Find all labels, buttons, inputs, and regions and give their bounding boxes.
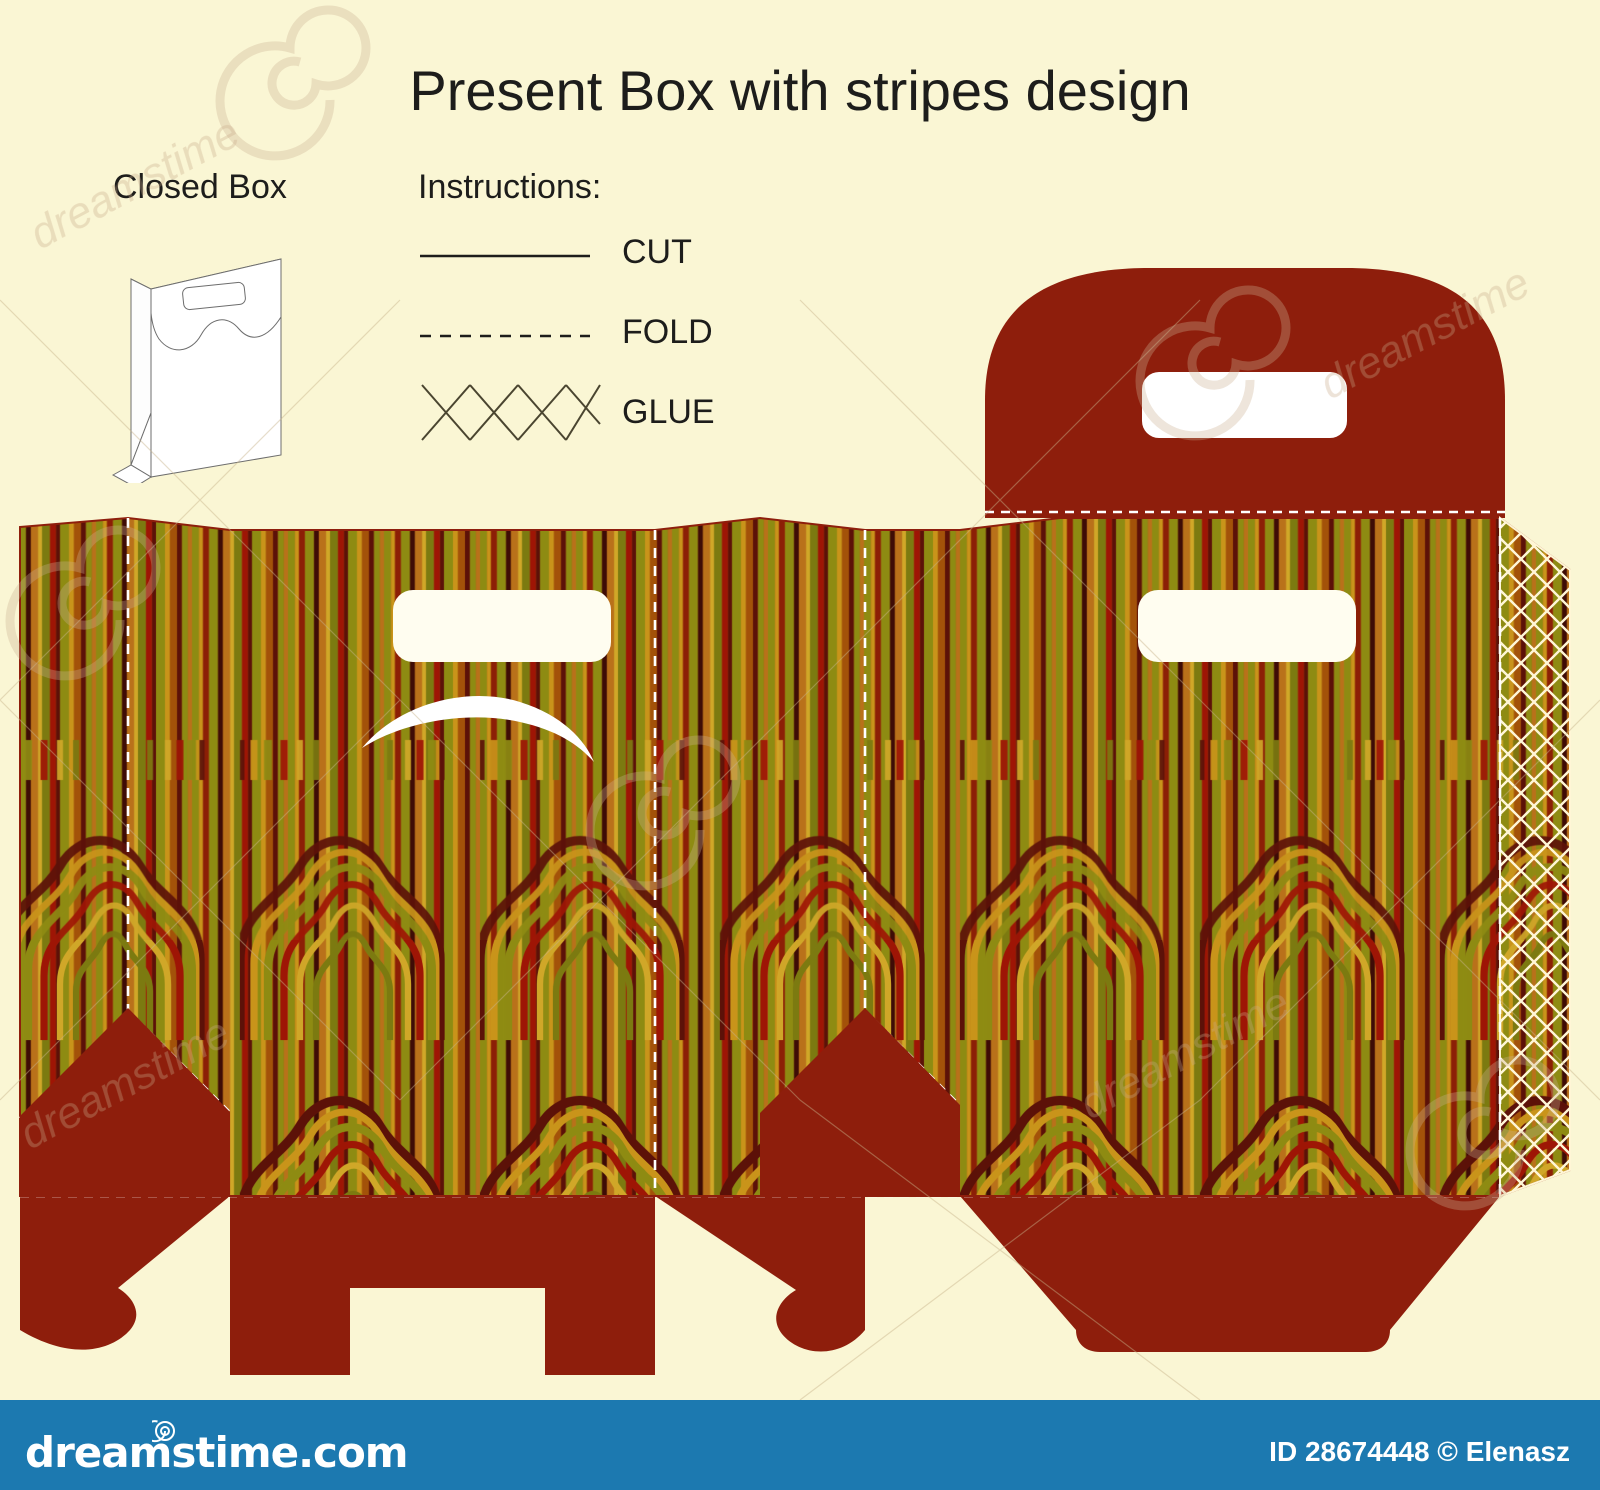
dreamstime-logo[interactable]: dreamstime.com	[25, 1428, 408, 1477]
front-panel-handle-cutout	[393, 590, 611, 662]
top-flap	[985, 268, 1505, 518]
dieline-page: Present Box with stripes design Closed B…	[0, 0, 1600, 1490]
image-credit: ID 28674448 © Elenasz	[1269, 1436, 1570, 1468]
top-flap-handle-cutout	[1142, 372, 1347, 438]
bottom-flaps	[20, 1196, 1505, 1375]
back-panel-handle-cutout	[1138, 590, 1356, 662]
dieline-template	[0, 0, 1600, 1490]
dreamstime-spiral-icon	[152, 1418, 178, 1444]
glue-tab	[1500, 518, 1570, 1196]
